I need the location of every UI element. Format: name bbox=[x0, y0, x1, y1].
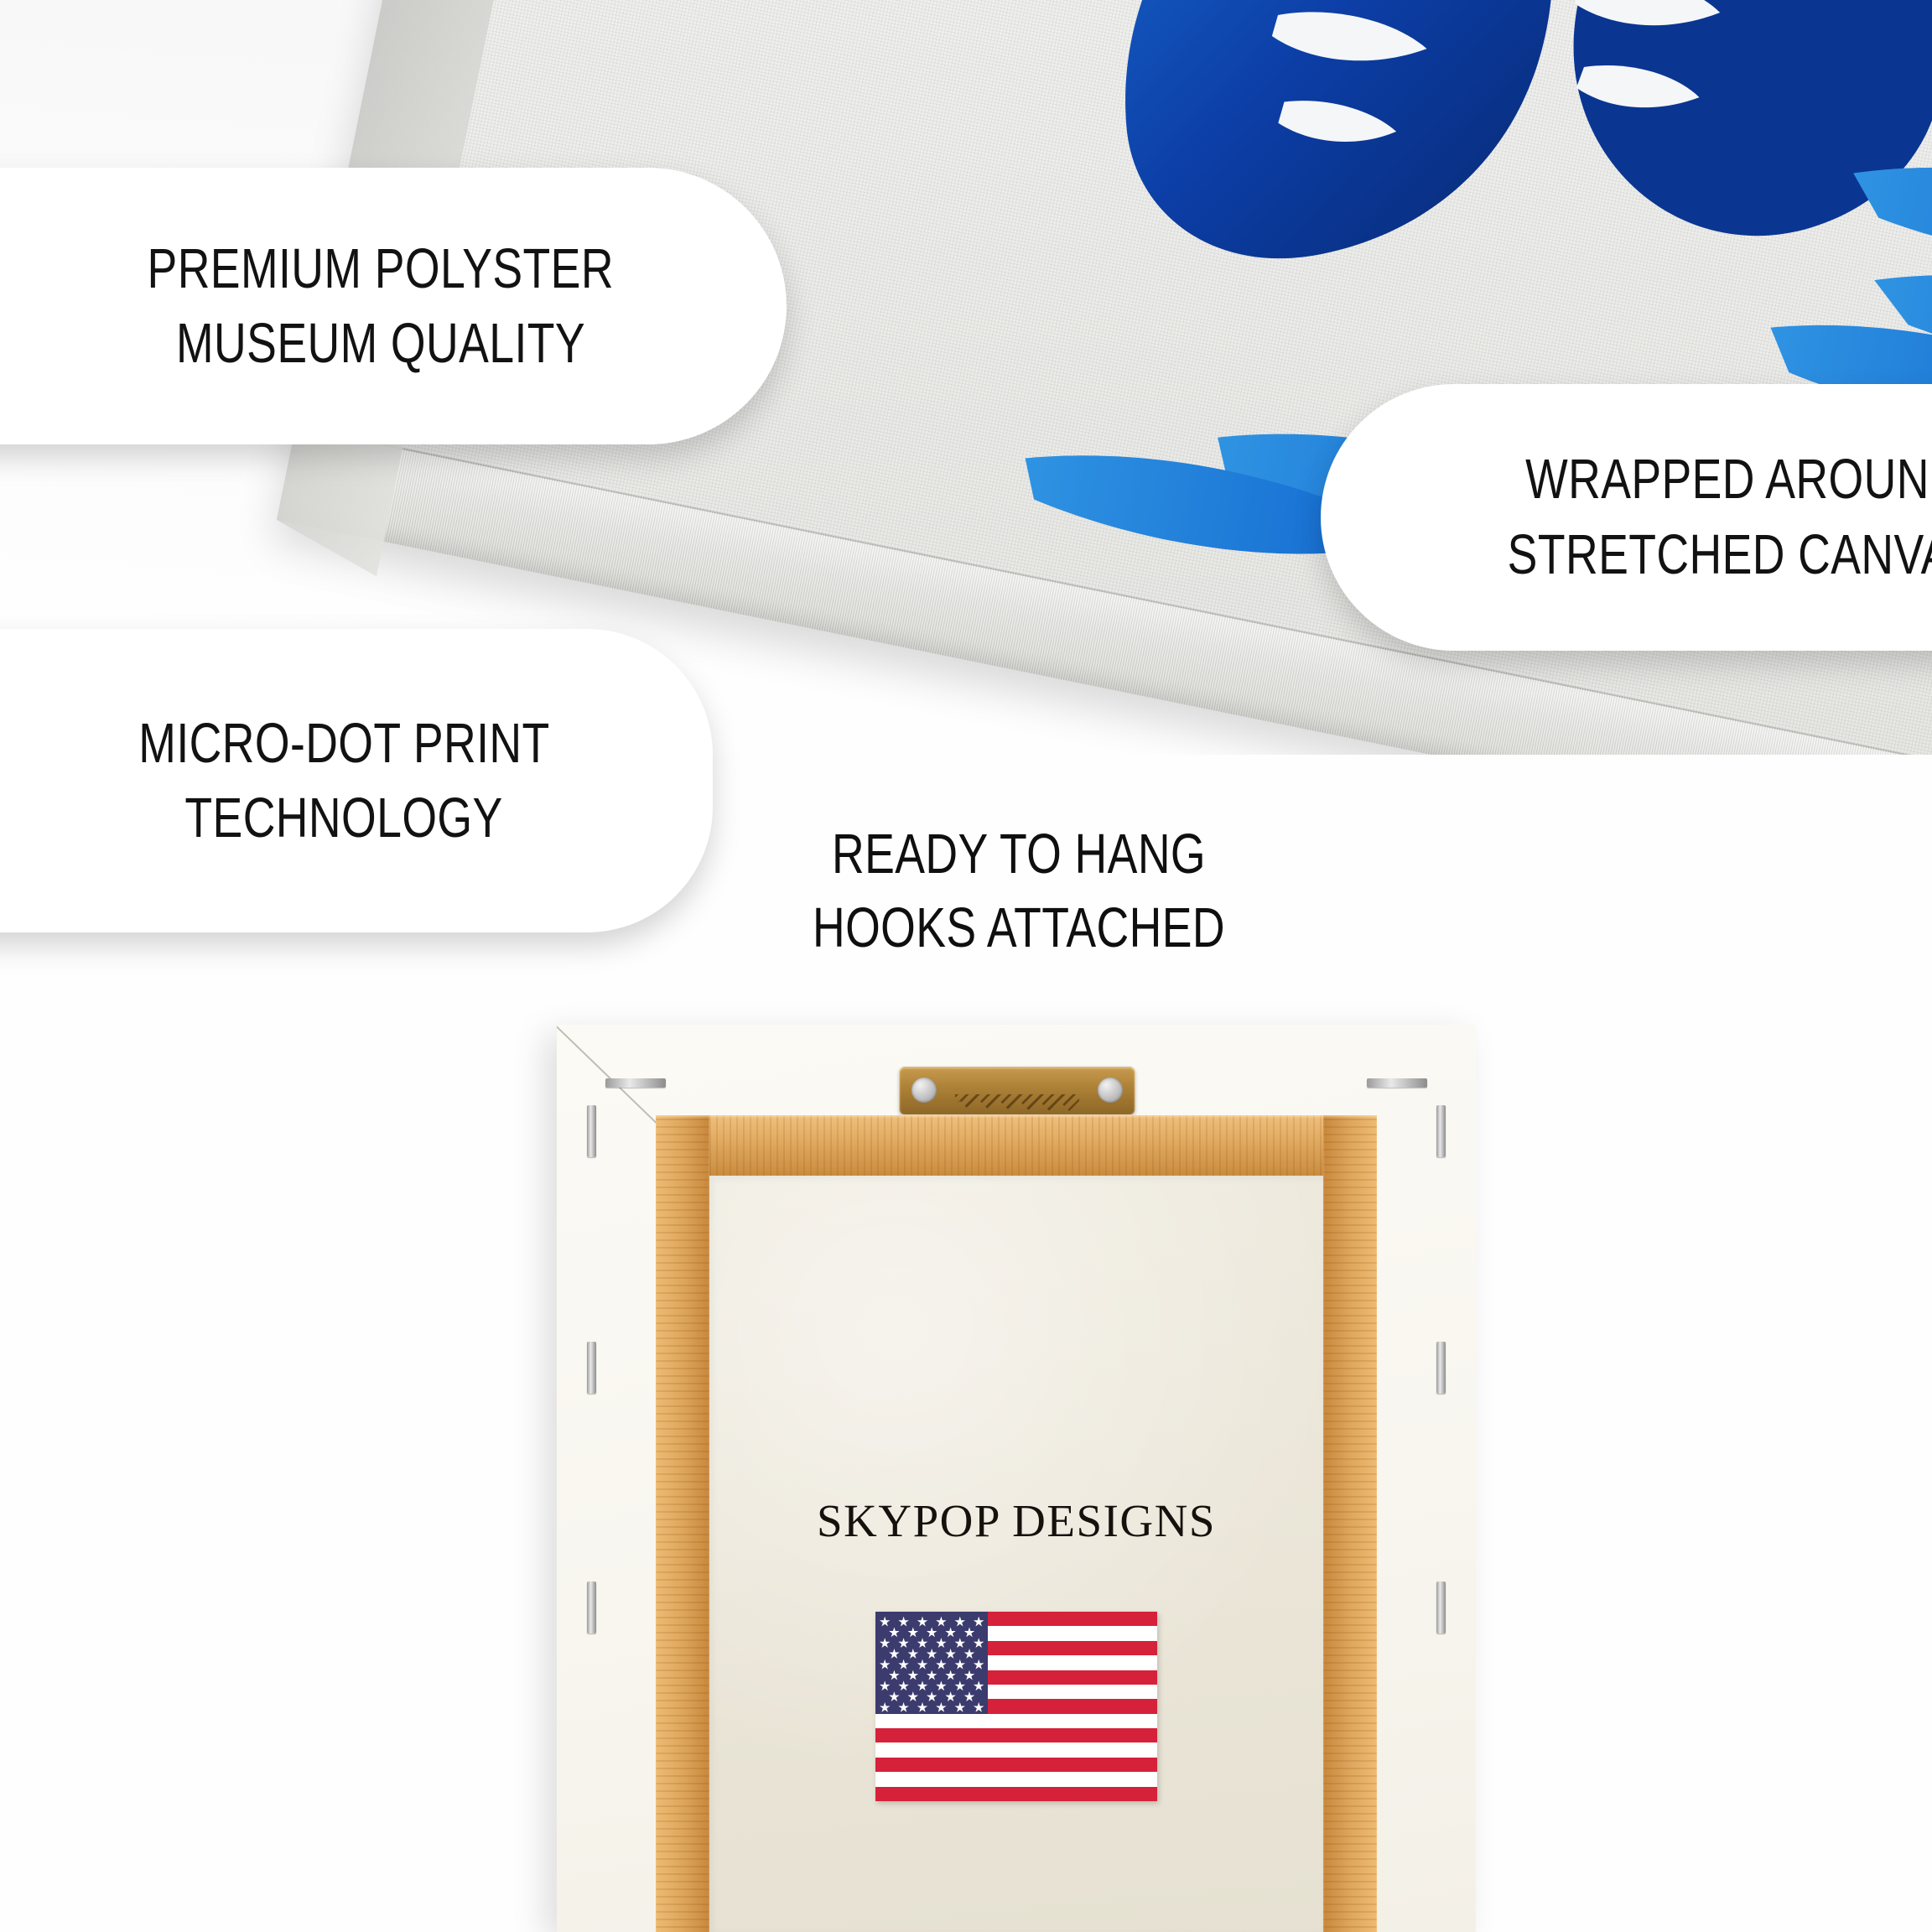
flag-star bbox=[936, 1659, 947, 1670]
flag-star bbox=[954, 1680, 965, 1691]
flag-star bbox=[964, 1691, 975, 1702]
flag-stripe bbox=[875, 1772, 1157, 1786]
flag-star bbox=[936, 1617, 947, 1628]
flag-star bbox=[964, 1649, 975, 1659]
flag-stripe bbox=[875, 1742, 1157, 1757]
flag-star bbox=[880, 1638, 891, 1649]
flag-star bbox=[880, 1617, 891, 1628]
staple bbox=[1436, 1105, 1446, 1157]
stretcher-bar-right bbox=[1323, 1115, 1377, 1932]
staple bbox=[587, 1105, 596, 1157]
flag-star bbox=[945, 1649, 956, 1659]
flag-star bbox=[889, 1627, 900, 1638]
flag-star bbox=[974, 1638, 984, 1649]
sawtooth-hanger-icon bbox=[899, 1067, 1135, 1115]
flag-star bbox=[917, 1638, 928, 1649]
flag-star bbox=[927, 1627, 937, 1638]
brand-name: SKYPOP DESIGNS bbox=[709, 1494, 1323, 1547]
flag-star bbox=[917, 1702, 928, 1713]
hanger-teeth bbox=[955, 1094, 1079, 1111]
feature-label-line-1: MICRO-DOT PRINT bbox=[138, 706, 549, 781]
staple bbox=[1367, 1078, 1427, 1088]
feature-label-line-2: MUSEUM QUALITY bbox=[176, 306, 585, 381]
flag-star bbox=[917, 1659, 928, 1670]
staple bbox=[1436, 1581, 1446, 1633]
staple bbox=[605, 1078, 666, 1088]
flag-star bbox=[945, 1670, 956, 1681]
us-flag-icon bbox=[875, 1612, 1157, 1801]
flag-star bbox=[974, 1617, 984, 1628]
staple bbox=[587, 1342, 596, 1394]
flag-star bbox=[974, 1702, 984, 1713]
stretcher-bar-left bbox=[656, 1115, 709, 1932]
feature-label-line-2: HOOKS ATTACHED bbox=[633, 891, 1405, 965]
hanger-screw-left-icon bbox=[911, 1078, 937, 1103]
flag-star bbox=[907, 1627, 918, 1638]
feature-badge-micro-dot-print: MICRO-DOT PRINT TECHNOLOGY bbox=[0, 629, 713, 932]
flag-star bbox=[907, 1670, 918, 1681]
flag-star bbox=[898, 1659, 909, 1670]
flag-star bbox=[907, 1691, 918, 1702]
flag-stripe bbox=[875, 1728, 1157, 1742]
feature-label-line-1: READY TO HANG bbox=[633, 818, 1405, 891]
flag-star bbox=[898, 1638, 909, 1649]
flag-canton bbox=[875, 1612, 988, 1714]
feature-label-line-2: TECHNOLOGY bbox=[184, 781, 502, 855]
flag-star bbox=[880, 1659, 891, 1670]
flag-star bbox=[974, 1659, 984, 1670]
hanger-screw-right-icon bbox=[1098, 1078, 1123, 1103]
flag-star bbox=[927, 1649, 937, 1659]
flag-star bbox=[917, 1617, 928, 1628]
flag-star bbox=[898, 1617, 909, 1628]
flag-star bbox=[945, 1627, 956, 1638]
flag-star bbox=[964, 1670, 975, 1681]
flag-star bbox=[898, 1680, 909, 1691]
flag-star bbox=[880, 1702, 891, 1713]
flag-star bbox=[889, 1691, 900, 1702]
flag-star bbox=[927, 1691, 937, 1702]
flag-star bbox=[936, 1638, 947, 1649]
flag-star bbox=[954, 1702, 965, 1713]
flag-stripe bbox=[875, 1714, 1157, 1728]
flag-star bbox=[880, 1680, 891, 1691]
feature-label-line-2: STRETCHED CANVAS bbox=[1507, 517, 1932, 593]
staple bbox=[587, 1581, 596, 1633]
flag-stripe bbox=[875, 1787, 1157, 1801]
product-photo-canvas-back: SKYPOP DESIGNS bbox=[557, 1025, 1476, 1932]
flag-star bbox=[927, 1670, 937, 1681]
flag-star bbox=[889, 1670, 900, 1681]
flag-star bbox=[945, 1691, 956, 1702]
canvas-back-surface: SKYPOP DESIGNS bbox=[709, 1176, 1323, 1932]
feature-label-line-1: PREMIUM POLYSTER bbox=[148, 231, 614, 306]
flag-star bbox=[907, 1649, 918, 1659]
flag-star bbox=[917, 1680, 928, 1691]
flag-star bbox=[964, 1627, 975, 1638]
stretcher-bar-top bbox=[656, 1115, 1377, 1176]
flag-star bbox=[954, 1617, 965, 1628]
flag-star bbox=[974, 1680, 984, 1691]
flag-star bbox=[889, 1649, 900, 1659]
flag-star bbox=[898, 1702, 909, 1713]
flag-star bbox=[954, 1638, 965, 1649]
feature-label-line-1: WRAPPED AROUND bbox=[1526, 442, 1932, 517]
infographic-canvas: PREMIUM POLYSTER MUSEUM QUALITY MICRO-DO… bbox=[0, 0, 1932, 1932]
flag-star bbox=[936, 1680, 947, 1691]
staple bbox=[1436, 1342, 1446, 1394]
flag-star bbox=[936, 1702, 947, 1713]
flag-star bbox=[954, 1659, 965, 1670]
flag-stripe bbox=[875, 1758, 1157, 1772]
feature-badge-wrapped-around: WRAPPED AROUND STRETCHED CANVAS bbox=[1321, 384, 1932, 651]
feature-badge-premium-polyster: PREMIUM POLYSTER MUSEUM QUALITY bbox=[0, 168, 787, 444]
